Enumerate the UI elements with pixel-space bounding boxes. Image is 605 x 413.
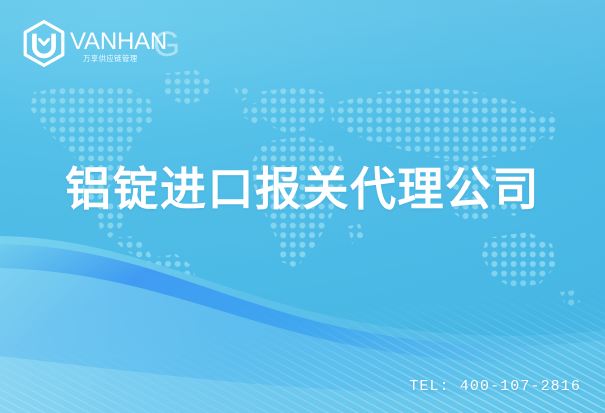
brand-logo[interactable]: G VANHAN 万享供应链管理 [21, 20, 181, 68]
hexagon-u-mark-icon [21, 20, 67, 67]
poster-canvas: G VANHAN 万享供应链管理 铝锭进口报关代理公司 TEL: 400-107… [0, 0, 605, 413]
wordmark-main-letters: VANHAN [70, 28, 167, 55]
brand-wordmark: G VANHAN 万享供应链管理 [69, 22, 181, 66]
page-title: 铝锭进口报关代理公司 [0, 160, 605, 218]
contact-phone: TEL: 400-107-2816 [409, 378, 581, 395]
wordmark-subtitle: 万享供应链管理 [83, 54, 138, 63]
